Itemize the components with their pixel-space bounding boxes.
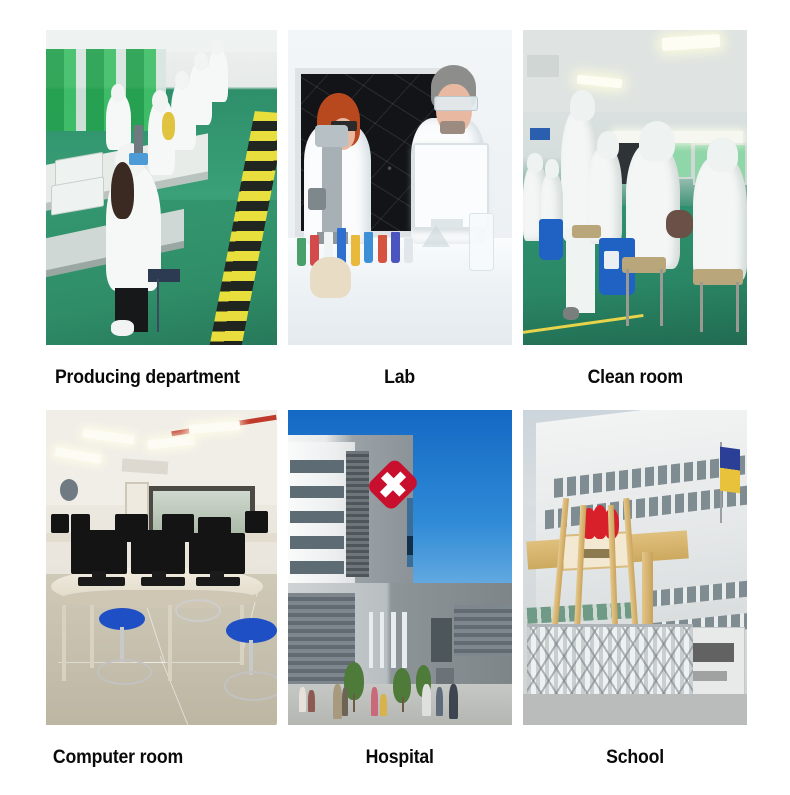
caption-hospital: Hospital (366, 748, 434, 767)
caption-clean-room: Clean room (587, 368, 682, 387)
caption-school: School (606, 748, 664, 767)
photo-lab[interactable] (288, 30, 512, 345)
gallery-item-hospital[interactable]: Hospital (288, 410, 512, 790)
gallery-item-clean-room[interactable]: Clean room (523, 30, 747, 410)
gallery-item-producing-department[interactable]: Producing department (46, 30, 277, 410)
gallery-item-lab[interactable]: Lab (288, 30, 512, 410)
photo-clean-room[interactable] (523, 30, 747, 345)
scenario-gallery: Producing department (0, 0, 790, 795)
photo-computer-room[interactable] (46, 410, 277, 725)
caption-computer-room: Computer room (53, 748, 183, 767)
gallery-item-computer-room[interactable]: Computer room (46, 410, 277, 790)
gallery-item-school[interactable]: School (523, 410, 747, 790)
photo-producing-department[interactable] (46, 30, 277, 345)
photo-hospital[interactable] (288, 410, 512, 725)
photo-school[interactable] (523, 410, 747, 725)
caption-producing-department: Producing department (55, 368, 240, 387)
caption-lab: Lab (385, 368, 416, 387)
